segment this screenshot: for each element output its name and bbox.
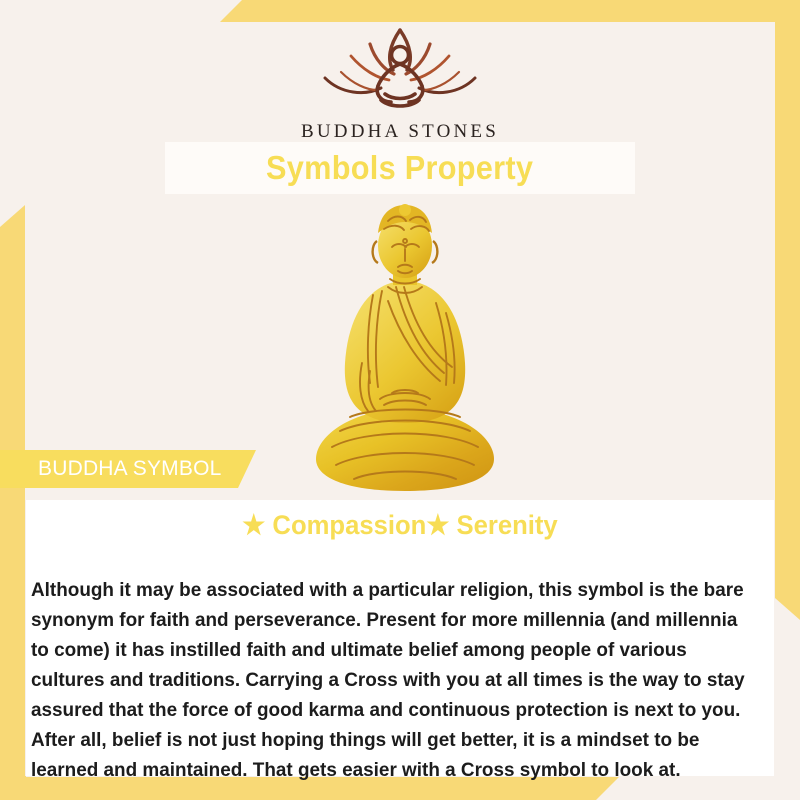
virtues-heading: ★ Compassion★ Serenity <box>45 510 756 541</box>
status-badge: BUDDHA SYMBOL <box>0 450 256 488</box>
badge-label: BUDDHA SYMBOL <box>38 457 221 481</box>
poster-root: BUDDHA STONES Symbols Property <box>0 0 800 800</box>
brand-wordmark: BUDDHA STONES <box>0 121 800 143</box>
seated-buddha-statue-icon <box>310 203 500 500</box>
decor-band-left <box>0 205 25 800</box>
decor-band-top <box>220 0 800 22</box>
content-panel: ★ Compassion★ Serenity Although it may b… <box>26 500 774 776</box>
brand-logo: BUDDHA STONES <box>0 22 800 143</box>
page-title: Symbols Property <box>266 149 533 187</box>
lotus-meditation-figure-icon <box>0 22 800 119</box>
body-paragraph: Although it may be associated with a par… <box>31 575 749 785</box>
title-banner: Symbols Property <box>165 142 635 194</box>
